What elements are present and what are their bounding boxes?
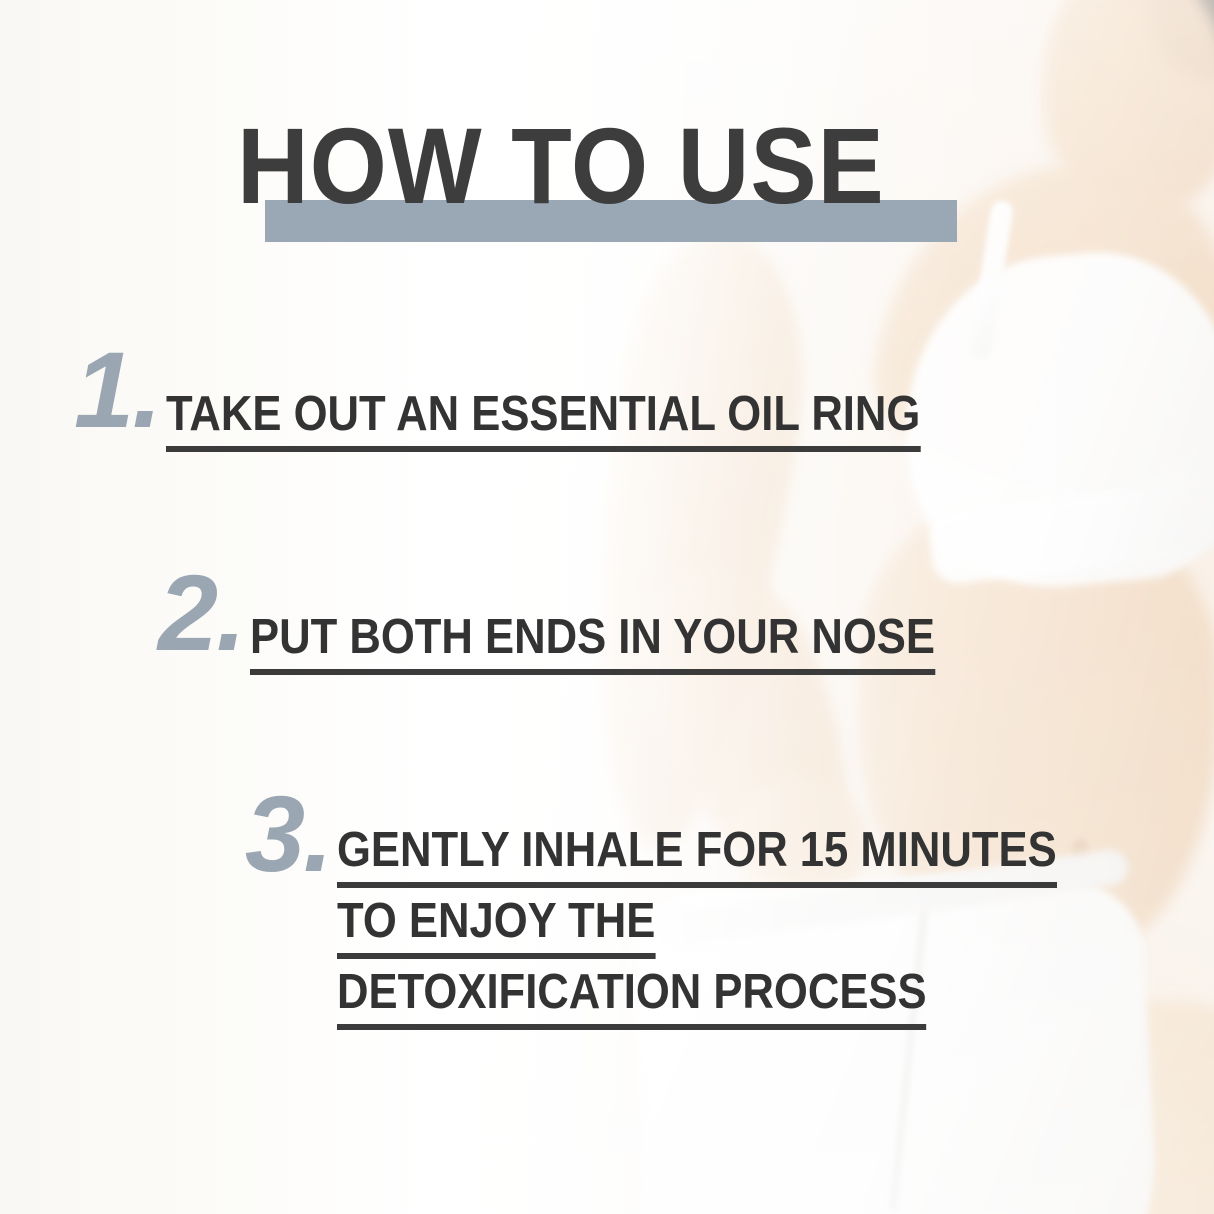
step-line: TAKE OUT AN ESSENTIAL OIL RING bbox=[166, 390, 920, 452]
step-item-1: 1. TAKE OUT AN ESSENTIAL OIL RING bbox=[74, 340, 1214, 461]
step-number-1: 1. bbox=[74, 340, 160, 440]
step-number-2: 2. bbox=[158, 563, 244, 663]
step-line: TO ENJOY THE bbox=[337, 897, 655, 959]
step-number-3: 3. bbox=[245, 784, 331, 884]
step-line: GENTLY INHALE FOR 15 MINUTES bbox=[337, 826, 1057, 888]
how-to-use-infographic: HOW TO USE 1. TAKE OUT AN ESSENTIAL OIL … bbox=[0, 0, 1214, 1214]
step-text-1: TAKE OUT AN ESSENTIAL OIL RING bbox=[166, 340, 1214, 461]
step-text-3: GENTLY INHALE FOR 15 MINUTES TO ENJOY TH… bbox=[337, 784, 1214, 1039]
content-layer: HOW TO USE 1. TAKE OUT AN ESSENTIAL OIL … bbox=[0, 0, 1214, 1214]
step-item-2: 2. PUT BOTH ENDS IN YOUR NOSE bbox=[158, 563, 1214, 684]
steps-list: 1. TAKE OUT AN ESSENTIAL OIL RING 2. PUT… bbox=[0, 340, 1214, 1039]
page-title-text: HOW TO USE bbox=[237, 112, 885, 220]
step-line: PUT BOTH ENDS IN YOUR NOSE bbox=[250, 613, 935, 675]
step-text-2: PUT BOTH ENDS IN YOUR NOSE bbox=[250, 563, 1214, 684]
step-item-3: 3. GENTLY INHALE FOR 15 MINUTES TO ENJOY… bbox=[245, 784, 1214, 1039]
page-title: HOW TO USE bbox=[237, 112, 941, 220]
step-line: DETOXIFICATION PROCESS bbox=[337, 968, 927, 1030]
